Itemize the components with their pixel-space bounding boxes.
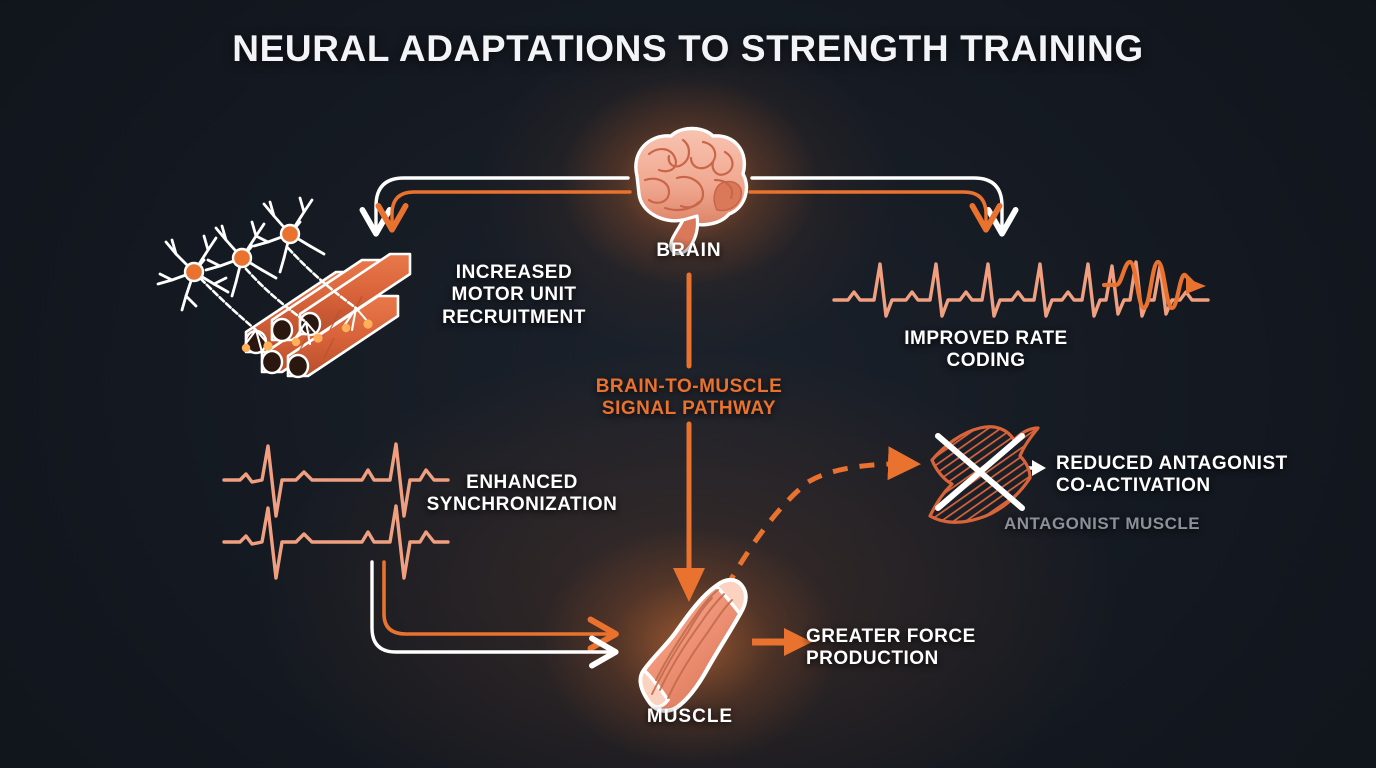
neuron-soma-1 bbox=[158, 236, 228, 310]
pathway-label: BRAIN-TO-MUSCLE SIGNAL PATHWAY bbox=[588, 376, 790, 421]
adaptation-label-motor-unit-recruitment: INCREASED MOTOR UNIT RECRUITMENT bbox=[414, 262, 614, 329]
paired-ecg-traces-icon bbox=[224, 444, 448, 578]
adaptation-label-rate-coding: IMPROVED RATE CODING bbox=[872, 328, 1100, 373]
outcome-label-greater-force: GREATER FORCE PRODUCTION bbox=[806, 626, 1046, 671]
crossed-out-muscle-icon bbox=[930, 427, 1038, 523]
muscle-label: MUSCLE bbox=[590, 706, 790, 728]
infographic-canvas: NEURAL ADAPTATIONS TO STRENGTH TRAINING bbox=[0, 0, 1376, 768]
adaptation-label-reduced-antagonist: REDUCED ANTAGONIST CO-ACTIVATION bbox=[1056, 453, 1316, 498]
brain-label: BRAIN bbox=[589, 240, 789, 262]
motor-neurons-muscle-fibers-icon bbox=[158, 198, 410, 377]
adaptation-label-synchronization: ENHANCED SYNCHRONIZATION bbox=[420, 472, 624, 517]
neuron-soma-3 bbox=[254, 198, 324, 272]
antagonist-muscle-label: ANTAGONIST MUSCLE bbox=[1004, 514, 1274, 534]
